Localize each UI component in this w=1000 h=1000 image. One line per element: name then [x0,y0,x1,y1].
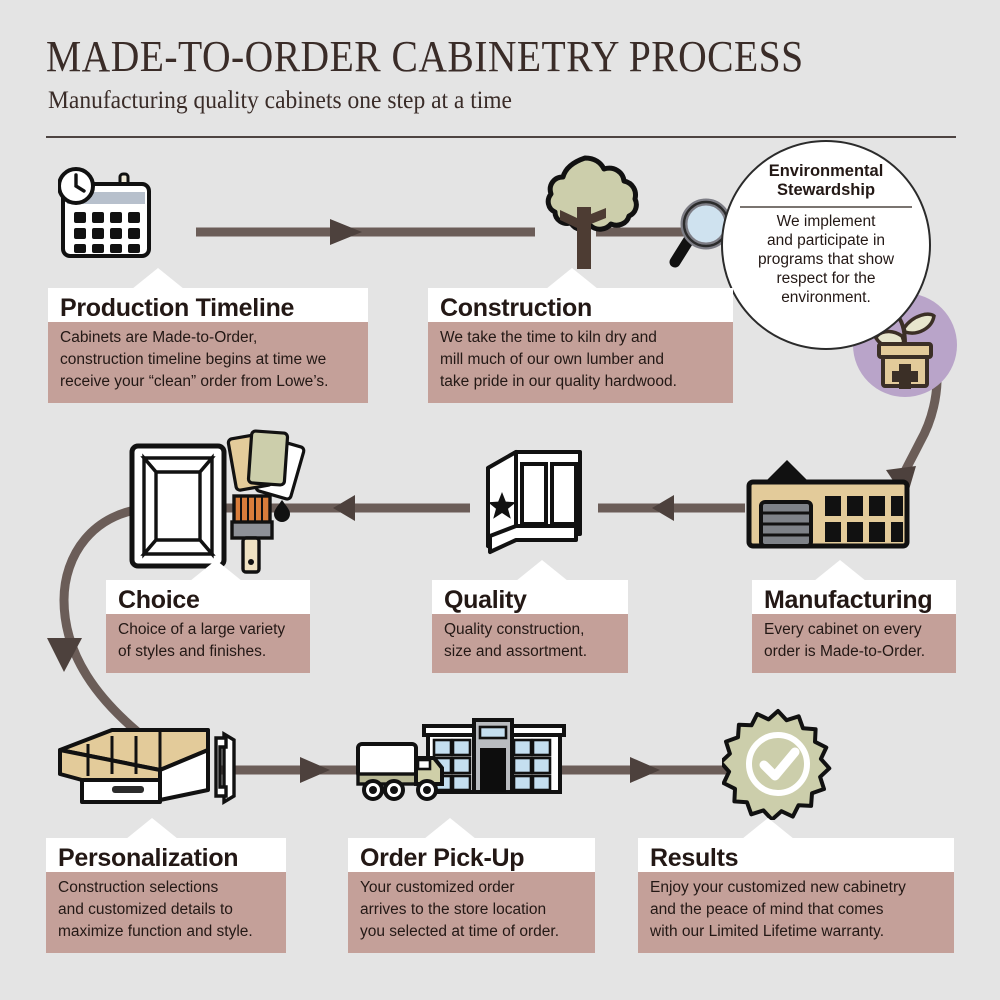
callout-body: Construction selections and customized d… [46,872,286,953]
callout-title: Results [638,838,954,872]
callout-title: Order Pick-Up [348,838,595,872]
delivery-truck-store-icon [352,712,567,812]
callout-body: Choice of a large variety of styles and … [106,614,310,673]
callout-pointer [190,560,242,581]
callout-order-pickup: Order Pick-Up Your customized order arri… [348,838,595,953]
callout-pointer [546,268,598,289]
callout-title: Quality [432,580,628,614]
callout-pointer [814,560,866,581]
callout-pointer [742,818,794,839]
bubble-divider [740,206,912,208]
calendar-clock-icon [58,160,208,270]
drawer-organizer-handle-icon [54,718,244,818]
callout-pointer [132,268,184,289]
cabinet-icon [472,442,592,558]
infographic-canvas: MADE-TO-ORDER CABINETRY PROCESS Manufact… [0,0,1000,1000]
bubble-body: We implement and participate in programs… [723,212,929,308]
callout-pointer [516,560,568,581]
callout-body: We take the time to kiln dry and mill mu… [428,322,733,403]
check-badge-icon [722,708,834,820]
tree-icon [530,152,640,272]
callout-body: Enjoy your customized new cabinetry and … [638,872,954,953]
callout-body: Every cabinet on every order is Made-to-… [752,614,956,673]
callout-title: Production Timeline [48,288,368,322]
callout-body: Cabinets are Made-to-Order, construction… [48,322,368,403]
bubble-title: Environmental Stewardship [723,162,929,201]
callout-quality: Quality Quality construction, size and a… [432,580,628,673]
callout-results: Results Enjoy your customized new cabine… [638,838,954,953]
callout-construction: Construction We take the time to kiln dr… [428,288,733,403]
callout-title: Personalization [46,838,286,872]
factory-icon [745,452,915,552]
callout-production-timeline: Production Timeline Cabinets are Made-to… [48,288,368,403]
environmental-stewardship-bubble: Environmental Stewardship We implement a… [721,140,931,350]
callout-personalization: Personalization Construction selections … [46,838,286,953]
callout-title: Choice [106,580,310,614]
callout-pointer [126,818,178,839]
callout-title: Construction [428,288,733,322]
callout-title: Manufacturing [752,580,956,614]
cabinet-door-swatches-brush-icon [128,424,313,574]
cabinet-pull-handle [216,734,234,802]
callout-pointer [424,818,476,839]
callout-manufacturing: Manufacturing Every cabinet on every ord… [752,580,956,673]
callout-choice: Choice Choice of a large variety of styl… [106,580,310,673]
storefront [424,720,564,792]
callout-body: Quality construction, size and assortmen… [432,614,628,673]
callout-body: Your customized order arrives to the sto… [348,872,595,953]
